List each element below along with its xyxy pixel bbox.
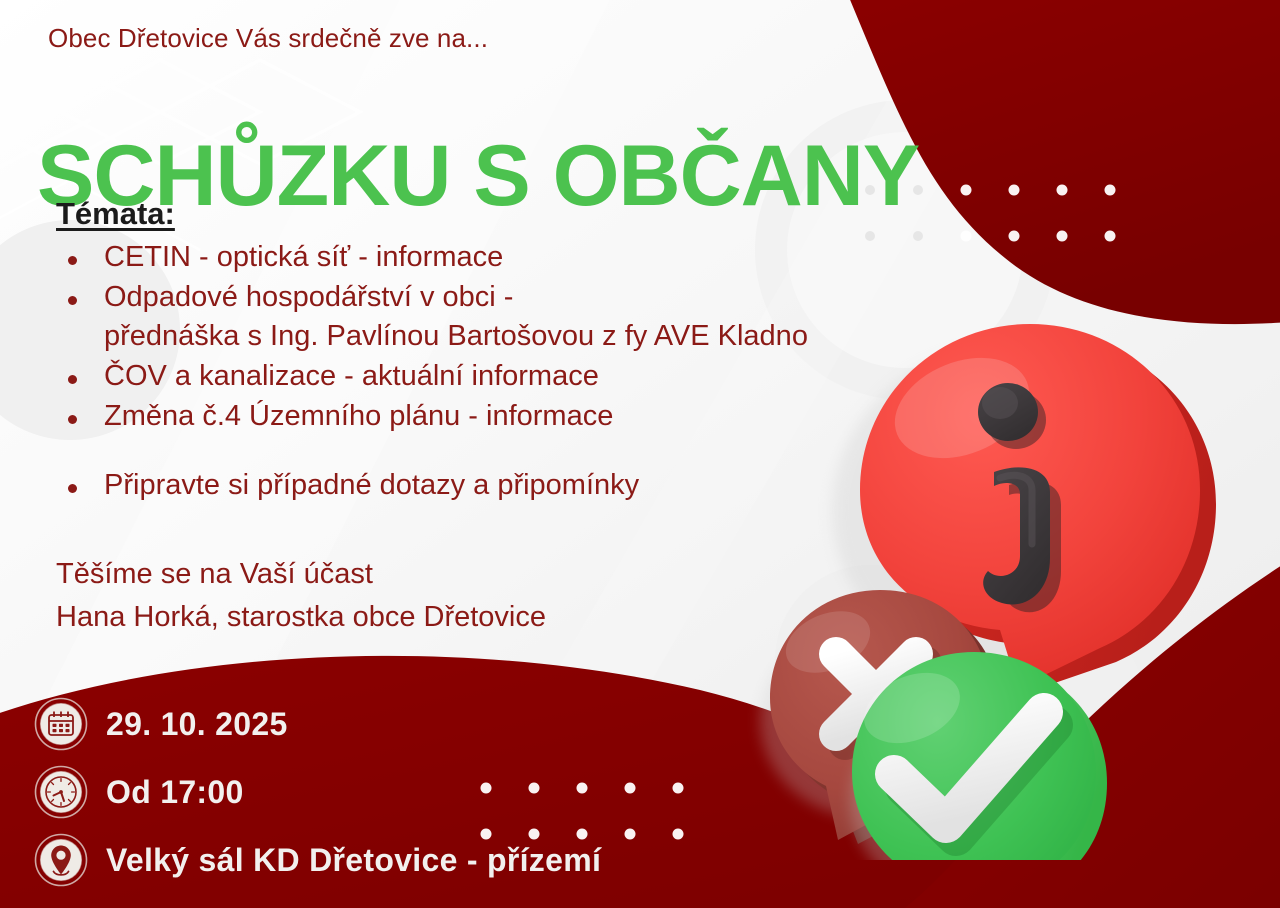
closing-line-2: Hana Horká, starostka obce Dřetovice <box>56 596 546 639</box>
list-item-text: Připravte si případné dotazy a připomínk… <box>104 469 639 501</box>
list-item: CETIN - optická síť - informace <box>56 238 986 278</box>
closing-section: Těšíme se na Vaší účast Hana Horká, star… <box>56 553 546 638</box>
bullet-icon <box>68 484 77 493</box>
event-location: Velký sál KD Dřetovice - přízemí <box>106 842 601 879</box>
location-pin-icon <box>34 833 88 887</box>
kicker-text: Obec Dřetovice Vás srdečně zve na... <box>48 23 488 54</box>
list-item-text: CETIN - optická síť - informace <box>104 241 503 273</box>
bullet-icon <box>68 296 77 305</box>
bullet-icon <box>68 256 77 265</box>
calendar-icon <box>34 697 88 751</box>
clock-icon <box>34 765 88 819</box>
detail-row-time: Od 17:00 <box>0 758 760 826</box>
list-item-text: Změna č.4 Územního plánu - informace <box>104 400 613 432</box>
bullet-icon <box>68 415 77 424</box>
detail-row-location: Velký sál KD Dřetovice - přízemí <box>0 826 760 894</box>
event-time: Od 17:00 <box>106 774 244 811</box>
bullet-icon <box>68 375 77 384</box>
list-item-text: Odpadové hospodářství v obci - <box>104 281 513 313</box>
list-item-text: ČOV a kanalizace - aktuální informace <box>104 360 599 392</box>
poster: Obec Dřetovice Vás srdečně zve na... SCH… <box>0 0 1280 908</box>
closing-line-1: Těšíme se na Vaší účast <box>56 553 546 596</box>
event-date: 29. 10. 2025 <box>106 706 288 743</box>
event-details: 29. 10. 2025 <box>0 690 760 894</box>
topics-heading: Témata: <box>56 196 175 232</box>
speech-bubbles-illustration <box>700 300 1280 860</box>
detail-row-date: 29. 10. 2025 <box>0 690 760 758</box>
